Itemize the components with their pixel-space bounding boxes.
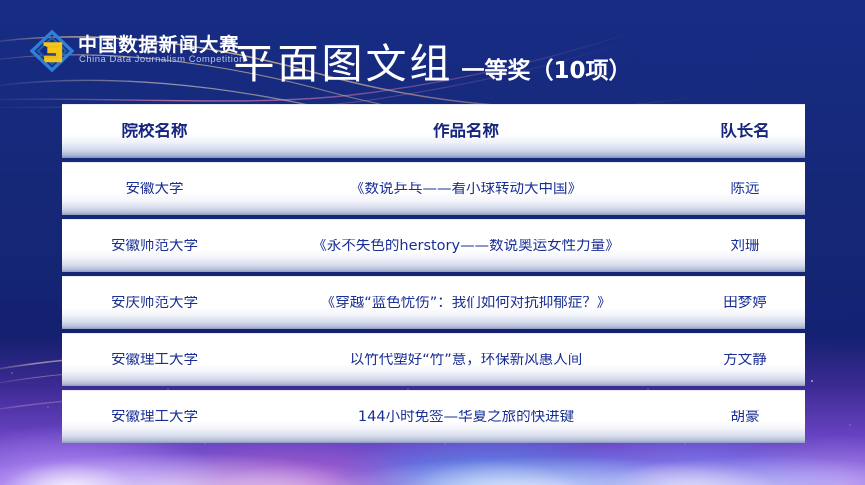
title-main: 平面图文组 — [233, 40, 453, 88]
awards-table: 院校名称 作品名称 队长名 安徽大学 《数说乒乓——看小球转动大中国》 陈远 安… — [62, 104, 805, 443]
table-row: 安徽师范大学 《永不失色的herstory——数说奥运女性力量》 刘珊 — [62, 219, 805, 272]
cell-work: 《数说乒乓——看小球转动大中国》 — [247, 182, 685, 197]
cell-school: 安徽师范大学 — [62, 239, 247, 254]
cell-school: 安庆师范大学 — [62, 296, 247, 311]
cell-school: 安徽理工大学 — [62, 410, 247, 425]
column-header-work: 作品名称 — [247, 123, 685, 140]
cell-leader: 胡豪 — [685, 410, 805, 425]
cell-work: 以竹代塑好“竹”意，环保新风惠人间 — [247, 353, 685, 368]
cell-leader: 方文静 — [685, 353, 805, 368]
table-row: 安徽理工大学 144小时免签—华夏之旅的快进键 胡豪 — [62, 390, 805, 443]
cell-leader: 陈远 — [685, 182, 805, 197]
cell-leader: 田梦婷 — [685, 296, 805, 311]
cell-work: 144小时免签—华夏之旅的快进键 — [247, 410, 685, 425]
table-row: 安庆师范大学 《穿越“蓝色忧伤”：我们如何对抗抑郁症？》 田梦婷 — [62, 276, 805, 329]
cell-leader: 刘珊 — [685, 239, 805, 254]
table-row: 安徽大学 《数说乒乓——看小球转动大中国》 陈远 — [62, 162, 805, 215]
page-title: 平面图文组一等奖（10项） — [0, 30, 865, 90]
cell-school: 安徽大学 — [62, 182, 247, 197]
column-header-school: 院校名称 — [62, 123, 247, 140]
cell-work: 《永不失色的herstory——数说奥运女性力量》 — [247, 239, 685, 254]
title-sub: 一等奖（10项） — [461, 58, 631, 84]
column-header-leader: 队长名 — [685, 123, 805, 140]
table-header-row: 院校名称 作品名称 队长名 — [62, 104, 805, 158]
cell-school: 安徽理工大学 — [62, 353, 247, 368]
table-row: 安徽理工大学 以竹代塑好“竹”意，环保新风惠人间 方文静 — [62, 333, 805, 386]
cell-work: 《穿越“蓝色忧伤”：我们如何对抗抑郁症？》 — [247, 296, 685, 311]
